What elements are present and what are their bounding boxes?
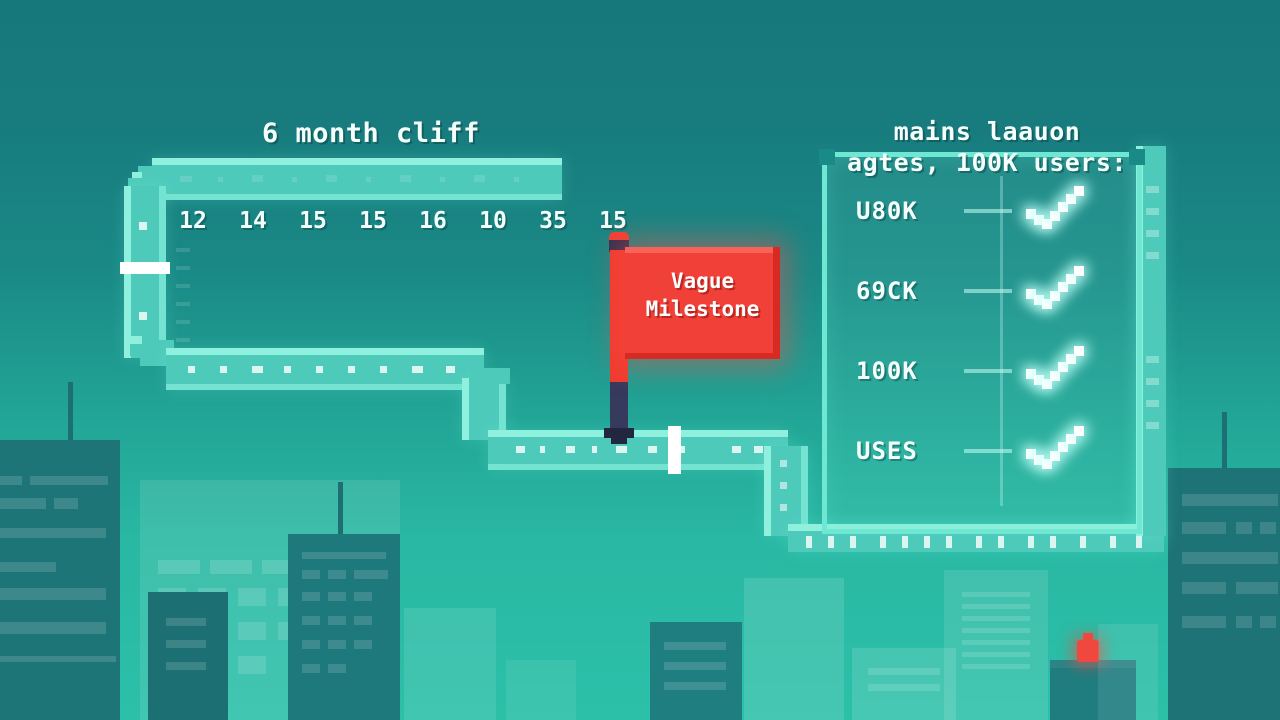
building-foreground-right	[1098, 624, 1158, 720]
vague-milestone-flag[interactable]: Vague Milestone	[600, 232, 800, 444]
milestone-row[interactable]: 100K	[856, 350, 1112, 392]
road-segment-right-descender	[764, 446, 808, 536]
number-cell: 12	[176, 208, 210, 234]
milestone-label: 69CK	[856, 277, 964, 305]
road-segment-top	[152, 158, 562, 200]
antenna-mast-center	[338, 482, 343, 534]
crosswalk-left	[120, 262, 170, 274]
row-connector	[964, 289, 1012, 293]
check-icon	[1024, 425, 1094, 477]
building-dark-650	[650, 622, 742, 720]
flag-pole-lower	[610, 382, 628, 434]
building-mid-dark	[148, 592, 228, 720]
flag-label-line1: Vague	[625, 267, 780, 295]
row-connector	[964, 209, 1012, 213]
scene-canvas: 6 month cliff 12 14 15 15 16 10 35 15 U8…	[0, 0, 1280, 720]
building-pale-lines	[944, 570, 1048, 720]
building-tall-center	[288, 534, 400, 720]
building-dark-right	[1168, 468, 1280, 720]
building-light-right-of-center	[404, 608, 496, 720]
check-icon	[1024, 265, 1094, 317]
milestone-label: 100K	[856, 357, 964, 385]
antenna-mast	[68, 382, 73, 440]
panel-title: mains laauon agtes, 100K users:	[842, 116, 1132, 178]
number-cell: 10	[476, 208, 510, 234]
building-block-550	[506, 660, 576, 720]
banner-shadow-bottom	[625, 353, 780, 359]
number-cell: 35	[536, 208, 570, 234]
milestones-panel[interactable]: U80K 69CK	[822, 152, 1142, 534]
milestone-row[interactable]: U80K	[856, 190, 1112, 232]
antenna-mast-right	[1222, 412, 1227, 468]
row-connector	[964, 449, 1012, 453]
number-cell: 14	[236, 208, 270, 234]
milestone-row[interactable]: 69CK	[856, 270, 1112, 312]
banner-highlight-top	[625, 247, 780, 253]
building-pale-doc	[744, 578, 844, 720]
row-connector	[964, 369, 1012, 373]
number-cell: 15	[356, 208, 390, 234]
road-segment-middle	[166, 348, 484, 390]
building-low-left-pale	[852, 648, 956, 720]
milestone-label: U80K	[856, 197, 964, 225]
number-row: 12 14 15 15 16 10 35 15	[176, 208, 630, 234]
road-corner-bottom-left-edge	[126, 336, 142, 344]
milestone-label: USES	[856, 437, 964, 465]
flag-pole-foot	[611, 435, 627, 444]
tick-column	[176, 248, 190, 342]
check-icon	[1024, 185, 1094, 237]
building-dark-far-left	[0, 440, 120, 720]
flag-banner[interactable]: Vague Milestone	[625, 247, 780, 359]
number-cell: 16	[416, 208, 450, 234]
flag-label-line2: Milestone	[625, 295, 780, 323]
road-step-descender-a	[470, 368, 510, 384]
milestone-row[interactable]: USES	[856, 430, 1112, 472]
check-icon	[1024, 345, 1094, 397]
panel-notch-tl	[819, 149, 835, 165]
number-cell: 15	[296, 208, 330, 234]
flag-label: Vague Milestone	[625, 267, 780, 323]
number-cell: 15	[596, 208, 630, 234]
beacon-light	[1077, 640, 1099, 662]
cliff-title: 6 month cliff	[262, 118, 480, 149]
